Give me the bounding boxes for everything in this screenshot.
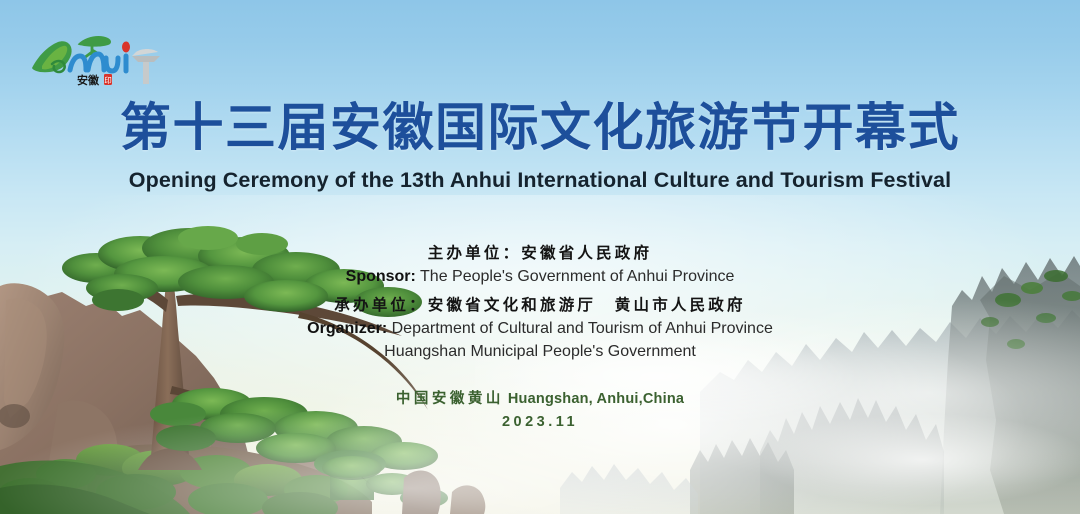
place-english: Huangshan, Anhui,China xyxy=(508,391,684,407)
sponsor-english-value: The People's Government of Anhui Provinc… xyxy=(420,268,734,285)
organizer-english-label: Organizer: xyxy=(307,320,387,337)
place-line: 中国安徽黄山 Huangshan, Anhui,China xyxy=(0,388,1080,411)
sponsor-english: Sponsor: The People's Government of Anhu… xyxy=(0,265,1080,288)
organizer-block: 承办单位：安徽省文化和旅游厅 黄山市人民政府 Organizer: Depart… xyxy=(0,294,1080,364)
place-chinese: 中国安徽黄山 xyxy=(396,391,504,407)
sponsor-chinese: 主办单位：安徽省人民政府 xyxy=(0,242,1080,265)
organizer-chinese: 承办单位：安徽省文化和旅游厅 黄山市人民政府 xyxy=(0,294,1080,317)
sponsor-english-label: Sponsor: xyxy=(346,268,416,285)
organizer-english-line-1: Organizer: Department of Cultural and To… xyxy=(0,317,1080,340)
organizer-english-line-2: Huangshan Municipal People's Government xyxy=(0,340,1080,363)
page-title-english: Opening Ceremony of the 13th Anhui Inter… xyxy=(0,168,1080,193)
page-title-chinese: 第十三届安徽国际文化旅游节开幕式 xyxy=(0,101,1080,155)
organizer-english-value: Department of Cultural and Tourism of An… xyxy=(392,320,773,337)
event-date: 2023.11 xyxy=(0,411,1080,434)
poster-text-content: 第十三届安徽国际文化旅游节开幕式 Opening Ceremony of the… xyxy=(0,0,1080,514)
festival-poster: 安徽 印 第十三届安徽国际文化旅游节开幕式 Opening Ceremony o… xyxy=(0,0,1080,514)
sponsor-block: 主办单位：安徽省人民政府 Sponsor: The People's Gover… xyxy=(0,242,1080,288)
place-block: 中国安徽黄山 Huangshan, Anhui,China 2023.11 xyxy=(0,388,1080,435)
